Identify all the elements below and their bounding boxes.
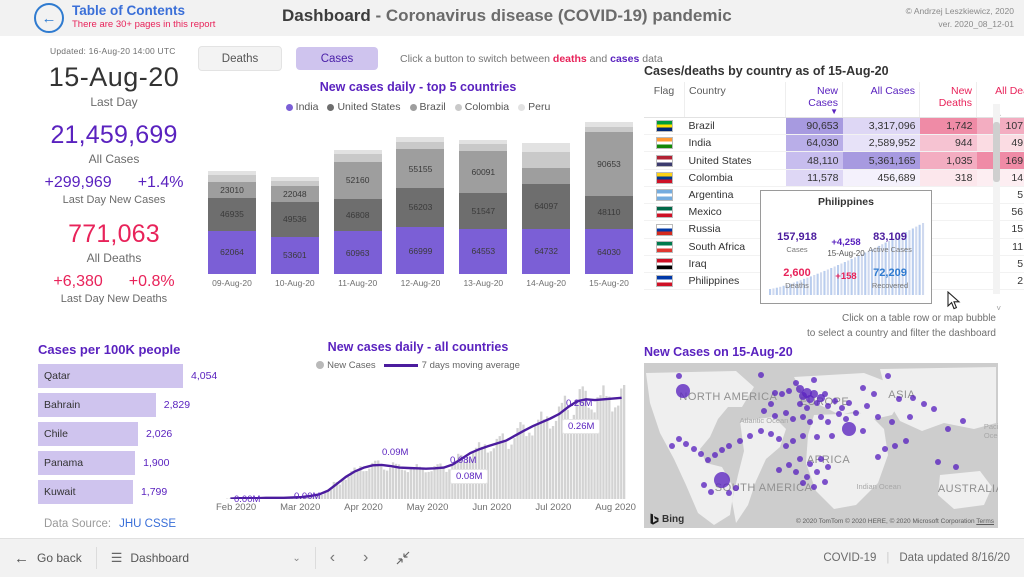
legend-new-cases: New Cases	[316, 360, 376, 371]
table-row[interactable]: United States48,1105,361,1651,035169,481	[644, 152, 1024, 169]
line-xtick: Aug 2020	[595, 502, 636, 513]
col-flag[interactable]: Flag	[644, 82, 685, 118]
kpi-panel: 15-Aug-20 Last Day 21,459,699 All Cases …	[0, 62, 228, 305]
prev-page-button[interactable]: ‹	[316, 539, 349, 577]
daily-bar	[422, 468, 424, 500]
cell-all-deaths: 169,481	[977, 152, 1024, 169]
bing-logo[interactable]: Bing	[650, 513, 684, 525]
bing-mark-icon	[650, 513, 659, 525]
map-bubble[interactable]	[822, 479, 828, 485]
daily-bar	[359, 466, 361, 499]
bar-xtick: 12-Aug-20	[396, 278, 444, 288]
flag-icon	[656, 224, 673, 236]
cell-flag	[644, 152, 685, 169]
daily-bar	[561, 403, 563, 499]
line-xtick: May 2020	[407, 502, 449, 513]
daily-bar	[552, 426, 554, 499]
cell-new-deaths: 1,742	[920, 118, 977, 135]
line-data-label: 0.26M	[566, 398, 592, 409]
cell-all-deaths: 14,810	[977, 169, 1024, 186]
daily-bar	[493, 448, 495, 499]
map-bubble[interactable]	[921, 401, 927, 407]
map-continent-label: AUSTRALIA	[938, 483, 998, 495]
kpi-date-label: Last Day	[0, 95, 228, 109]
top5-chart-title: New cases daily - top 5 countries	[198, 80, 638, 94]
cell-all-cases: 2,589,952	[843, 135, 920, 152]
daily-bar	[380, 465, 382, 499]
line-data-label: 0.08M	[450, 455, 476, 466]
cell-all-cases: 456,689	[843, 169, 920, 186]
kpi-date: 15-Aug-20	[0, 62, 228, 93]
bar-xtick: 13-Aug-20	[459, 278, 507, 288]
bar-column[interactable]: 521604680860963	[334, 122, 382, 274]
daily-bar	[383, 470, 385, 499]
map-bubble[interactable]	[737, 438, 743, 444]
bar-segment[interactable]: 64732	[522, 229, 570, 274]
per100k-country: Panama	[38, 457, 83, 469]
kpi-all-deaths-label: All Deaths	[0, 251, 228, 265]
daily-bar	[339, 485, 341, 499]
mouse-cursor-icon	[947, 291, 961, 311]
legend-new-cases-label: New Cases	[327, 360, 376, 371]
daily-bar	[428, 472, 430, 499]
cell-flag	[644, 118, 685, 135]
daily-bar	[398, 464, 400, 499]
per100k-value: 4,054	[191, 370, 219, 382]
metric-toggle-group: Deaths Cases Click a button to switch be…	[198, 46, 663, 71]
daily-bar	[401, 470, 403, 499]
table-row[interactable]: Colombia11,578456,68931814,810	[644, 169, 1024, 186]
bar-segment[interactable]: 46935	[208, 198, 256, 231]
map-bubble[interactable]	[698, 451, 704, 457]
page-selector[interactable]: ☰ Dashboard ⌄	[97, 539, 315, 577]
map-credits-text: © 2020 TomTom © 2020 HERE, © 2020 Micros…	[796, 518, 975, 525]
map-bubble[interactable]	[825, 403, 831, 409]
bar-segment[interactable]: 55155	[396, 149, 444, 188]
bar-segment[interactable]: 51547	[459, 193, 507, 229]
map-bubble[interactable]	[836, 411, 842, 417]
cell-country[interactable]: Brazil	[685, 118, 786, 135]
flag-icon	[656, 172, 673, 184]
daily-bar	[502, 433, 504, 499]
daily-bar	[549, 429, 551, 499]
map-bubble[interactable]	[783, 443, 789, 449]
flag-icon	[656, 120, 673, 132]
country-tooltip: Philippines 157,918 Cases +4,258 15-Aug-…	[760, 190, 932, 304]
map-bubble[interactable]	[882, 446, 888, 452]
cell-all-deaths: 2,600	[977, 272, 1024, 289]
tooltip-active-label: Active Cases	[859, 245, 921, 254]
kpi-new-cases-pct: +1.4%	[138, 174, 184, 192]
daily-bar	[410, 468, 412, 499]
daily-bar	[413, 468, 415, 499]
bar-segment[interactable]: 53601	[271, 237, 319, 274]
bar-segment[interactable]: 64553	[459, 229, 507, 274]
line-data-label: 0.09M	[382, 447, 408, 458]
legend-dot-icon	[455, 104, 462, 111]
legend-item[interactable]: Brazil	[410, 101, 446, 113]
bar-column[interactable]: 6409764732	[522, 122, 570, 274]
bar-segment[interactable]: 52160	[334, 162, 382, 198]
bar-segment[interactable]	[334, 154, 382, 162]
kpi-all-cases-label: All Cases	[0, 152, 228, 166]
map-bubble[interactable]	[892, 443, 898, 449]
bar-segment[interactable]	[396, 142, 444, 149]
legend-dot-icon	[286, 104, 293, 111]
legend-line-icon	[384, 364, 418, 367]
legend-moving-average: 7 days moving average	[384, 360, 520, 371]
chevron-left-icon: ‹	[330, 549, 335, 567]
data-source-label: Data Source:	[44, 518, 111, 530]
status-updated: Data updated 8/16/20	[899, 552, 1010, 564]
daily-bar	[374, 461, 376, 499]
map-bubble[interactable]	[822, 391, 828, 397]
cell-new-cases: 64,030	[786, 135, 843, 152]
hint-line-1: Click on a table row or map bubble	[644, 312, 996, 327]
line-chart-legend: New Cases 7 days moving average	[198, 360, 638, 371]
map-bubble[interactable]	[797, 401, 803, 407]
map-bubble[interactable]	[818, 456, 824, 462]
line-data-tooltip: 0.08M	[450, 469, 488, 484]
cell-all-cases: 5,361,165	[843, 152, 920, 169]
map-bubble[interactable]	[864, 403, 870, 409]
page-title: Dashboard - Coronavirus disease (COVID-1…	[282, 6, 732, 26]
bar-segment[interactable]: 62064	[208, 231, 256, 274]
sparkline-bar	[922, 223, 924, 295]
daily-bar	[546, 416, 548, 499]
map-bubble[interactable]	[772, 390, 778, 396]
cell-all-deaths: 49,980	[977, 135, 1024, 152]
table-scroll-thumb[interactable]	[993, 122, 1000, 182]
data-source-link[interactable]: JHU CSSE	[119, 518, 176, 530]
bar-segment[interactable]: 23010	[208, 182, 256, 198]
daily-bar	[537, 420, 539, 499]
per100k-value: 1,799	[141, 486, 169, 498]
bar-segment[interactable]: 64030	[585, 229, 633, 274]
legend-item[interactable]: Colombia	[455, 101, 509, 113]
chevron-right-icon: ›	[363, 549, 368, 567]
map-credits: © 2020 TomTom © 2020 HERE, © 2020 Micros…	[796, 518, 994, 525]
daily-bar	[368, 469, 370, 499]
cell-flag	[644, 255, 685, 272]
tooltip-recovered: 72,209 Recovered	[859, 267, 921, 290]
line-data-tooltip: 0.26M	[562, 419, 600, 434]
map-bubble[interactable]	[804, 405, 810, 411]
cell-all-deaths: 15,585	[977, 221, 1024, 238]
daily-bar	[371, 463, 373, 499]
map-bubble[interactable]	[853, 410, 859, 416]
kpi-new-deaths-value: +6,380	[53, 273, 102, 291]
daily-bar	[386, 471, 388, 499]
cell-flag	[644, 204, 685, 221]
daily-bar	[508, 449, 510, 499]
map-bubble[interactable]	[669, 443, 675, 449]
cell-all-deaths: 107,232	[977, 118, 1024, 135]
daily-bar	[543, 419, 545, 499]
daily-bar	[419, 467, 421, 499]
map-bubble[interactable]	[790, 416, 796, 422]
legend-dot-icon	[327, 104, 334, 111]
status-label: COVID-19	[823, 552, 876, 564]
map-bubble[interactable]	[839, 405, 845, 411]
daily-bar	[490, 451, 492, 499]
flag-icon	[656, 189, 673, 201]
map-bubble[interactable]	[846, 400, 852, 406]
bar-segment[interactable]: 66999	[396, 227, 444, 274]
map-bubble[interactable]	[960, 418, 966, 424]
map-bubble[interactable]	[676, 384, 690, 398]
kpi-new-deaths-label: Last Day New Deaths	[0, 293, 228, 305]
line-xtick: Feb 2020	[216, 502, 256, 513]
legend-item[interactable]: United States	[327, 101, 400, 113]
tooltip-title: Philippines	[761, 196, 931, 208]
map-bubble[interactable]	[790, 438, 796, 444]
line-xtick: Mar 2020	[280, 502, 320, 513]
map-bubble[interactable]	[800, 433, 806, 439]
legend-dot-icon	[518, 104, 525, 111]
current-page-label: Dashboard	[130, 551, 189, 565]
daily-bar	[365, 471, 367, 499]
page-title-rest: - Coronavirus disease (COVID-19) pandemi…	[371, 6, 732, 25]
hint-cases: cases	[610, 53, 639, 65]
bar-segment[interactable]: 60963	[334, 231, 382, 274]
bar-column[interactable]: 906534811064030	[585, 122, 633, 274]
table-row[interactable]: India64,0302,589,95294449,980	[644, 135, 1024, 152]
status-divider: |	[886, 552, 889, 564]
tooltip-recovered-value: 72,209	[859, 267, 921, 281]
bar-segment[interactable]: 48110	[585, 196, 633, 230]
bar-xtick: 11-Aug-20	[334, 278, 382, 288]
daily-bar	[356, 470, 358, 499]
hint-pre: Click a button to switch between	[400, 53, 553, 65]
bottom-toolbar: ← Go back ☰ Dashboard ⌄ ‹ › COVID-19 | D…	[0, 538, 1024, 577]
cell-new-cases: 48,110	[786, 152, 843, 169]
map-bubble[interactable]	[910, 395, 916, 401]
map-bubble[interactable]	[776, 467, 782, 473]
daily-bar	[330, 490, 332, 499]
cell-flag	[644, 238, 685, 255]
col-new-cases[interactable]: New Cases▼	[786, 82, 843, 118]
map-bubble[interactable]	[907, 414, 913, 420]
cell-new-deaths: 1,035	[920, 152, 977, 169]
cases-toggle-button[interactable]: Cases	[296, 47, 378, 70]
daily-bar	[342, 478, 344, 499]
map-bubble[interactable]	[714, 472, 730, 488]
kpi-new-cases-label: Last Day New Cases	[0, 194, 228, 206]
map-bubble[interactable]	[903, 438, 909, 444]
tooltip-active-cases: 83,109 Active Cases	[859, 231, 921, 254]
map-terms-link[interactable]: Terms	[976, 518, 994, 525]
daily-bar	[395, 464, 397, 499]
flag-icon	[656, 241, 673, 253]
toc-title: Table of Contents	[72, 3, 215, 19]
line-xtick: Apr 2020	[344, 502, 383, 513]
flag-icon	[656, 275, 673, 287]
legend-dot-icon	[410, 104, 417, 111]
cell-country[interactable]: United States	[685, 152, 786, 169]
daily-bar	[345, 480, 347, 499]
map-ocean-label: Indian Ocean	[856, 482, 901, 491]
cell-new-deaths: 318	[920, 169, 977, 186]
copyright-text: © Andrzej Leszkiewicz, 2020	[906, 5, 1014, 18]
daily-bar	[617, 406, 619, 499]
daily-bar	[407, 472, 409, 499]
table-row[interactable]: Brazil90,6533,317,0961,742107,232	[644, 118, 1024, 135]
cell-country[interactable]: Colombia	[685, 169, 786, 186]
daily-bar	[531, 436, 533, 500]
legend-item[interactable]: Peru	[518, 101, 550, 113]
legend-item[interactable]: India	[286, 101, 319, 113]
bar-column[interactable]: 230104693562064	[208, 122, 256, 274]
bar-column[interactable]: 220484953653601	[271, 122, 319, 274]
map-bubble[interactable]	[758, 372, 764, 378]
bar-segment[interactable]: 46808	[334, 199, 382, 232]
daily-bar	[499, 436, 501, 499]
daily-bar	[348, 477, 350, 499]
bar-segment[interactable]: 64097	[522, 184, 570, 229]
legend-dot-icon	[316, 361, 324, 369]
cell-all-deaths: 11,677	[977, 238, 1024, 255]
toggle-hint: Click a button to switch between deaths …	[400, 53, 663, 65]
world-map[interactable]: NORTH AMERICASOUTH AMERICAEUROPEAFRICAAS…	[644, 363, 998, 528]
hint-line-2: to select a country and filter the dashb…	[644, 327, 996, 342]
map-bubble[interactable]	[772, 413, 778, 419]
hint-post: data	[639, 53, 662, 65]
pages-list-icon: ☰	[111, 550, 123, 566]
table-header-row: Flag Country New Cases▼ All Cases New De…	[644, 82, 1024, 118]
cell-flag	[644, 221, 685, 238]
selection-hint: Click on a table row or map bubble to se…	[644, 312, 996, 341]
copyright-block: © Andrzej Leszkiewicz, 2020 ver. 2020_08…	[906, 5, 1014, 31]
cell-country[interactable]: India	[685, 135, 786, 152]
map-bubble[interactable]	[797, 456, 803, 462]
bar-segment[interactable]: 49536	[271, 202, 319, 237]
daily-bar	[436, 464, 438, 499]
kpi-all-cases-value: 21,459,699	[0, 121, 228, 150]
per100k-value: 2,026	[146, 428, 174, 440]
map-bubble[interactable]	[935, 459, 941, 465]
flag-icon	[656, 206, 673, 218]
left-arrow-icon: ←	[14, 550, 29, 567]
tooltip-recovered-label: Recovered	[859, 281, 921, 290]
daily-bar	[614, 407, 616, 499]
map-bubble[interactable]	[758, 428, 764, 434]
bar-segment[interactable]: 22048	[271, 186, 319, 201]
top5-chart-legend: IndiaUnited StatesBrazilColombiaPeru	[198, 101, 638, 113]
map-bubble[interactable]	[747, 433, 753, 439]
daily-bar	[433, 466, 435, 499]
updated-timestamp: Updated: 16-Aug-20 14:00 UTC	[50, 46, 176, 56]
bar-segment[interactable]	[459, 144, 507, 151]
col-country[interactable]: Country	[685, 82, 786, 118]
map-bubble[interactable]	[829, 433, 835, 439]
col-new-deaths[interactable]: New Deaths	[920, 82, 977, 118]
scroll-down-icon[interactable]: ˅	[996, 304, 1001, 313]
map-landmass-icon	[644, 363, 998, 528]
map-bubble[interactable]	[875, 454, 881, 460]
back-arrow-icon[interactable]: ←	[34, 3, 64, 33]
per100k-country: Bahrain	[38, 399, 80, 411]
map-bubble[interactable]	[804, 474, 810, 480]
daily-bar	[611, 412, 613, 500]
collapse-arrows-icon	[396, 551, 410, 565]
deaths-toggle-button[interactable]: Deaths	[198, 46, 282, 71]
dashboard-page: ← Table of Contents There are 30+ pages …	[0, 0, 1024, 576]
daily-bar	[596, 397, 598, 499]
daily-bar	[522, 425, 524, 499]
daily-bar	[505, 442, 507, 499]
map-bubble[interactable]	[953, 464, 959, 470]
sort-caret-icon: ▼	[790, 109, 838, 114]
go-back-label: Go back	[37, 551, 82, 565]
per100k-value: 1,900	[143, 457, 171, 469]
map-bubble[interactable]	[708, 489, 714, 495]
line-chart-plot: 0.00M0.00M0.09M0.08M0.08M0.26M0.26M	[226, 384, 626, 499]
bar-segment[interactable]	[522, 152, 570, 167]
map-bubble[interactable]	[811, 377, 817, 383]
chevron-down-icon[interactable]: ⌄	[292, 553, 300, 564]
cell-flag	[644, 272, 685, 289]
fit-to-screen-button[interactable]	[382, 539, 424, 577]
next-page-button[interactable]: ›	[349, 539, 382, 577]
map-bubble[interactable]	[776, 436, 782, 442]
country-table-title: Cases/deaths by country as of 15-Aug-20	[644, 64, 1002, 78]
col-new-cases-label: New Cases	[808, 85, 838, 109]
col-all-cases[interactable]: All Cases	[843, 82, 920, 118]
cell-flag	[644, 135, 685, 152]
bar-column[interactable]: 600915154764553	[459, 122, 507, 274]
go-back-button[interactable]: ← Go back	[0, 539, 96, 577]
map-bubble[interactable]	[825, 464, 831, 470]
per100k-country: Qatar	[38, 370, 70, 382]
bar-segment[interactable]: 56203	[396, 188, 444, 227]
daily-bar	[516, 428, 518, 499]
cell-new-deaths: 944	[920, 135, 977, 152]
flag-icon	[656, 258, 673, 270]
bar-segment[interactable]	[522, 143, 570, 153]
daily-bar	[321, 495, 323, 499]
top5-chart-bars: 2301046935620642204849536536015216046808…	[208, 122, 633, 274]
data-source: Data Source:JHU CSSE	[44, 518, 176, 530]
map-ocean-label: Atlantic Ocean	[740, 416, 789, 425]
daily-bar	[404, 470, 406, 499]
daily-bar	[496, 439, 498, 499]
cell-new-cases: 90,653	[786, 118, 843, 135]
map-bubble[interactable]	[811, 484, 817, 490]
map-bubble[interactable]	[726, 443, 732, 449]
daily-bar	[558, 407, 560, 500]
line-data-label: 0.00M	[294, 491, 320, 502]
map-bubble[interactable]	[691, 446, 697, 452]
map-bubble[interactable]	[783, 410, 789, 416]
tooltip-active-value: 83,109	[859, 231, 921, 245]
daily-bar	[513, 438, 515, 499]
line-chart-xaxis: Feb 2020Mar 2020Apr 2020May 2020Jun 2020…	[216, 502, 636, 513]
bar-segment[interactable]: 60091	[459, 151, 507, 193]
daily-bar	[425, 472, 427, 499]
bar-xtick: 10-Aug-20	[271, 278, 319, 288]
table-of-contents-link[interactable]: ← Table of Contents There are 30+ pages …	[34, 3, 215, 33]
top5-countries-bar-chart: New cases daily - top 5 countries IndiaU…	[198, 80, 638, 315]
map-title: New Cases on 15-Aug-20	[644, 345, 793, 359]
bar-segment[interactable]	[522, 168, 570, 184]
line-xtick: Jul 2020	[535, 502, 571, 513]
daily-bar	[623, 385, 625, 499]
bar-xtick: 15-Aug-20	[585, 278, 633, 288]
bar-segment[interactable]: 90653	[585, 132, 633, 195]
app-header: ← Table of Contents There are 30+ pages …	[0, 0, 1024, 36]
bar-column[interactable]: 551555620366999	[396, 122, 444, 274]
